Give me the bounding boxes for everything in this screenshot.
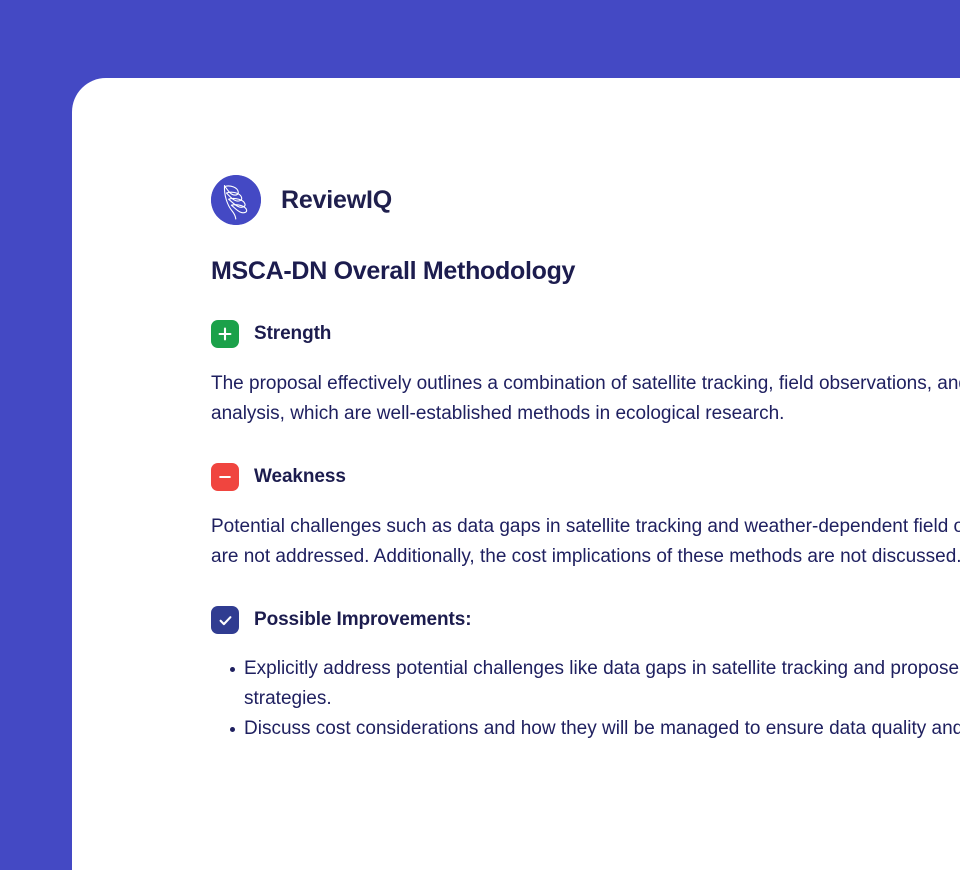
page-title: MSCA-DN Overall Methodology [211,257,960,286]
check-icon [211,606,239,634]
minus-icon [211,463,239,491]
brand-name: ReviewIQ [281,186,392,215]
brand-header: ReviewIQ [211,175,960,225]
list-item: Discuss cost considerations and how they… [211,714,960,744]
section-header-improvements: Possible Improvements: [211,606,960,634]
app-root: ReviewIQ MSCA-DN Overall Methodology Str… [0,0,960,870]
list-item: Explicitly address potential challenges … [211,654,960,714]
card-content: ReviewIQ MSCA-DN Overall Methodology Str… [211,175,960,744]
plus-icon [211,320,239,348]
section-header-weakness: Weakness [211,463,960,491]
fern-leaf-logo-icon [211,175,261,225]
review-card: ReviewIQ MSCA-DN Overall Methodology Str… [72,78,960,870]
section-label-weakness: Weakness [254,466,346,488]
section-label-improvements: Possible Improvements: [254,609,471,631]
section-label-strength: Strength [254,323,331,345]
section-header-strength: Strength [211,320,960,348]
section-body-strength: The proposal effectively outlines a comb… [211,369,960,429]
improvements-list: Explicitly address potential challenges … [211,654,960,744]
section-body-weakness: Potential challenges such as data gaps i… [211,512,960,572]
